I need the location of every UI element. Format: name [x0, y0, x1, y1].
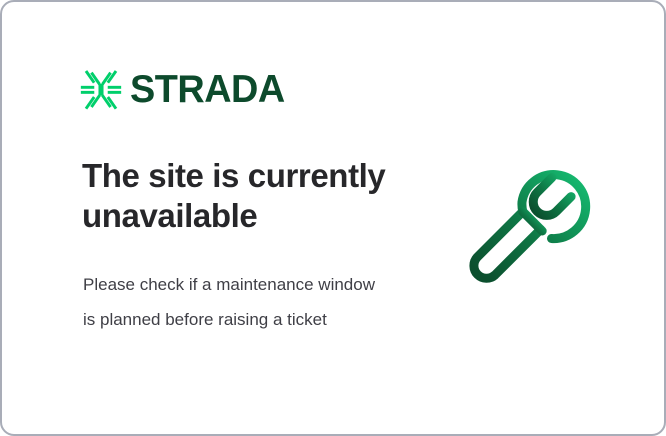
brand-lockup: STRADA [80, 68, 290, 110]
brand-wordmark: STRADA [130, 70, 285, 109]
wrench-illustration [457, 152, 617, 312]
page-title: The site is currently unavailable [82, 156, 412, 236]
page-description: Please check if a maintenance window is … [83, 267, 383, 337]
wrench-icon [457, 152, 617, 312]
strada-asterisk-icon [80, 68, 122, 110]
maintenance-page-card: STRADA The site is currently unavailable… [0, 0, 666, 436]
